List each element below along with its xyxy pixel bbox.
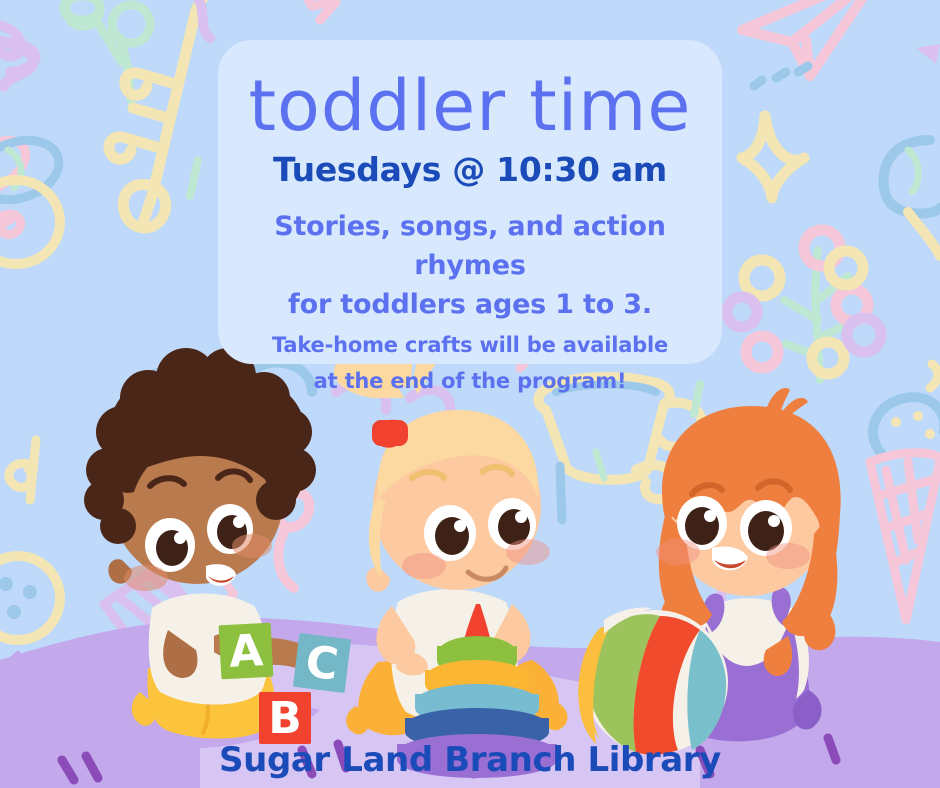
library-name: Sugar Land Branch Library bbox=[0, 740, 940, 780]
alphabet-block-c: C bbox=[293, 633, 351, 693]
block-letter: A bbox=[228, 625, 265, 678]
event-info-card: toddler time Tuesdays @ 10:30 am Stories… bbox=[218, 40, 722, 364]
alphabet-block-b: B bbox=[259, 692, 311, 744]
poster-canvas: A C B toddler time Tuesdays @ 10:30 am S… bbox=[0, 0, 940, 788]
alphabet-block-a: A bbox=[219, 623, 274, 680]
block-letter: B bbox=[268, 693, 302, 744]
block-letter: C bbox=[303, 636, 341, 691]
child-left bbox=[84, 348, 321, 739]
event-note-line1: Take-home crafts will be available bbox=[218, 330, 722, 360]
event-description-line2: for toddlers ages 1 to 3. bbox=[218, 285, 722, 324]
event-description-line1: Stories, songs, and action rhymes bbox=[218, 207, 722, 285]
event-schedule: Tuesdays @ 10:30 am bbox=[218, 150, 722, 189]
page-title: toddler time bbox=[218, 70, 722, 144]
event-note-line2: at the end of the program! bbox=[218, 366, 722, 396]
